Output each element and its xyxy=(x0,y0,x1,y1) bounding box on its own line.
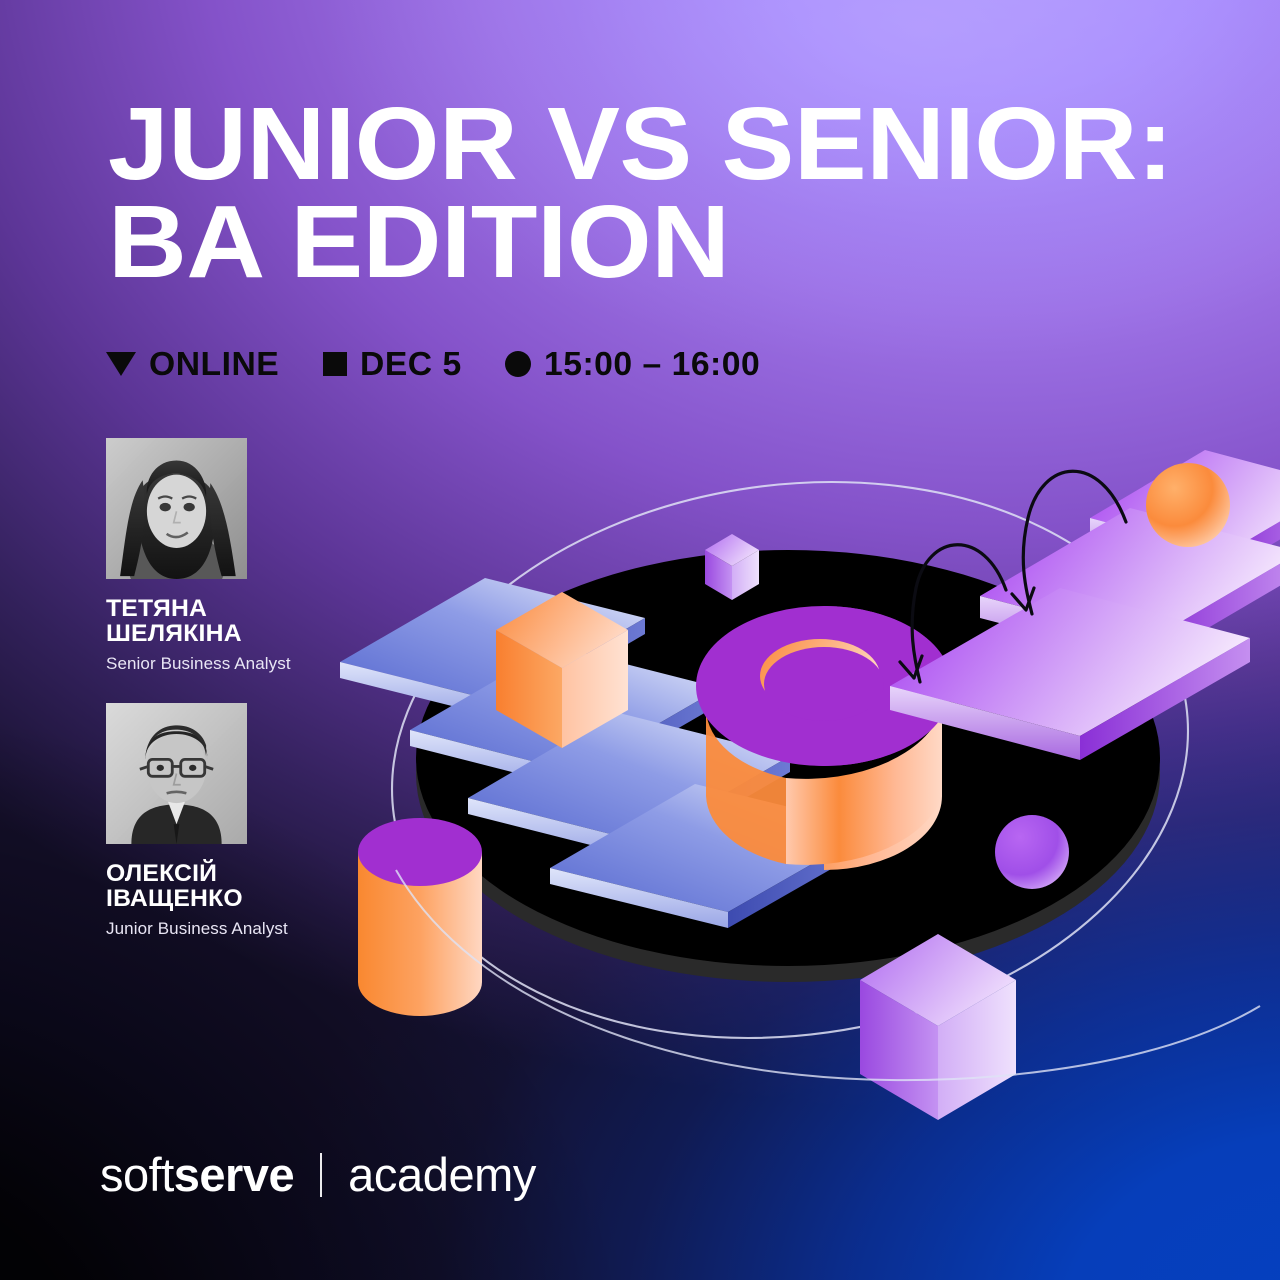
logo-academy: academy xyxy=(348,1151,536,1198)
purple-sphere xyxy=(995,815,1069,889)
speaker-card-2: ОЛЕКСІЙ ІВАЩЕНКО Junior Business Analyst xyxy=(106,703,288,939)
event-meta-row: ONLINE DEC 5 15:00 – 16:00 xyxy=(106,345,756,383)
speaker-photo-oleksiy xyxy=(106,703,247,844)
softserve-academy-logo: soft serve academy xyxy=(100,1151,536,1198)
square-marker-icon xyxy=(323,352,347,376)
speaker-role-1: Senior Business Analyst xyxy=(106,654,291,674)
meta-time-label: 15:00 – 16:00 xyxy=(544,345,760,383)
meta-date: DEC 5 xyxy=(323,345,460,383)
logo-serve: serve xyxy=(174,1151,294,1198)
page-title: JUNIOR VS SENIOR: BA EDITION xyxy=(108,95,1280,291)
circle-marker-icon xyxy=(505,351,531,377)
meta-date-label: DEC 5 xyxy=(360,345,462,383)
logo-soft: soft xyxy=(100,1151,174,1198)
speaker-name-2: ОЛЕКСІЙ ІВАЩЕНКО xyxy=(106,861,293,912)
isometric-question-mark-illustration xyxy=(300,400,1280,1160)
logo-divider xyxy=(320,1153,322,1197)
speaker-card-1: ТЕТЯНА ШЕЛЯКІНА Senior Business Analyst xyxy=(106,438,291,674)
speaker-name-1: ТЕТЯНА ШЕЛЯКІНА xyxy=(106,596,296,647)
meta-time: 15:00 – 16:00 xyxy=(505,345,756,383)
poster-canvas: JUNIOR VS SENIOR: BA EDITION ONLINE DEC … xyxy=(0,0,1280,1280)
orange-sphere xyxy=(1146,463,1230,547)
speaker-role-2: Junior Business Analyst xyxy=(106,919,288,939)
speaker-photo-tetyana xyxy=(106,438,247,579)
question-mark-dot-cylinder xyxy=(358,818,482,1016)
meta-format: ONLINE xyxy=(106,345,277,383)
meta-format-label: ONLINE xyxy=(149,345,279,383)
triangle-marker-icon xyxy=(106,352,136,376)
